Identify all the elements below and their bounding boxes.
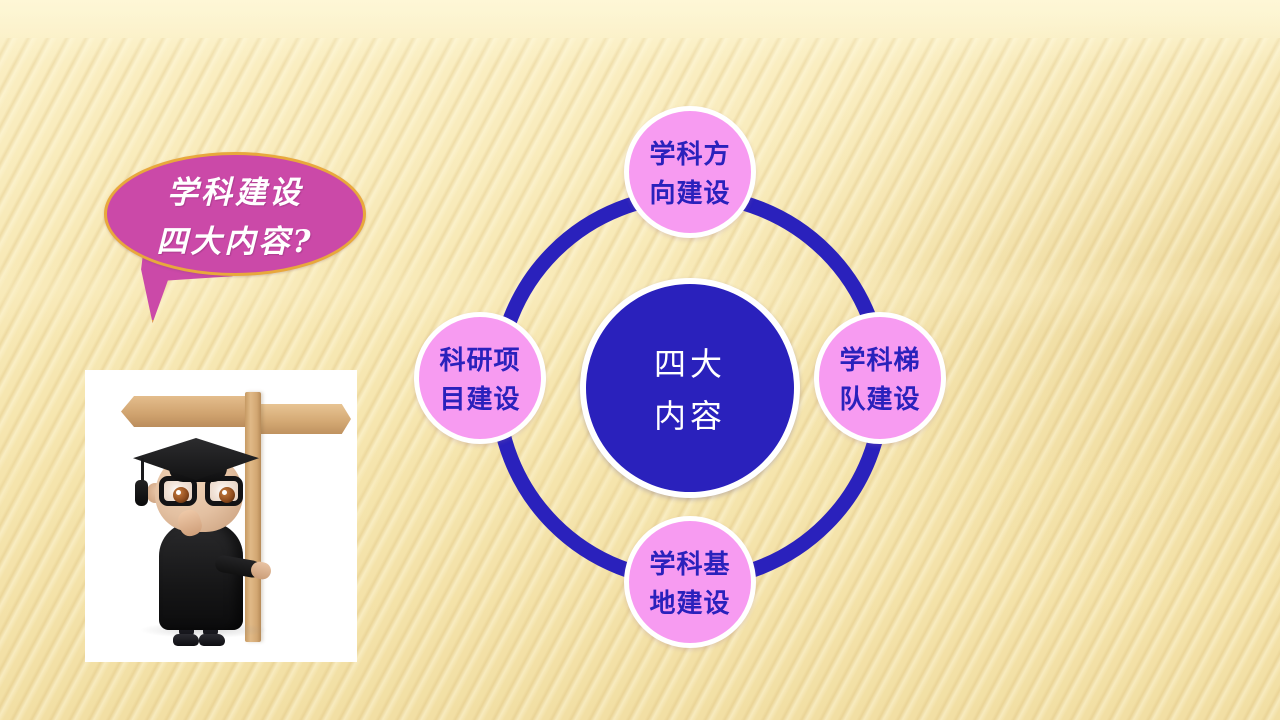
speech-bubble-body (104, 152, 366, 276)
graduate-character (85, 370, 357, 662)
eye-right (219, 487, 235, 503)
node-top-line-1: 学科方 (649, 134, 730, 171)
title-speech-bubble: 学科建设 四大内容? (104, 152, 366, 327)
four-contents-diagram: 四大 内容 学科方 向建设 学科梯 队建设 学科基 地建设 科研项 目建设 (410, 96, 970, 666)
diagram-node-left[interactable]: 科研项 目建设 (414, 312, 546, 444)
node-bottom-line-1: 学科基 (649, 544, 730, 581)
node-right-line-2: 队建设 (839, 379, 920, 416)
character-hand (249, 560, 272, 581)
eye-left (173, 487, 189, 503)
node-top-line-2: 向建设 (649, 173, 730, 210)
graduate-signpost-image (85, 370, 357, 662)
diagram-node-right[interactable]: 学科梯 队建设 (814, 312, 946, 444)
center-line-2: 内容 (654, 391, 726, 437)
tassel-icon (135, 480, 148, 506)
node-left-line-2: 目建设 (439, 379, 520, 416)
slide-canvas: 学科建设 四大内容? (0, 0, 1280, 720)
center-line-1: 四大 (654, 339, 726, 385)
node-right-line-1: 学科梯 (839, 340, 920, 377)
mortarboard-icon (133, 438, 259, 480)
shoe-left (173, 634, 199, 646)
graduation-gown (159, 522, 243, 630)
node-left-line-1: 科研项 (439, 340, 520, 377)
diagram-center-node: 四大 内容 (580, 278, 800, 498)
shoe-right (199, 634, 225, 646)
diagram-node-bottom[interactable]: 学科基 地建设 (624, 516, 756, 648)
node-bottom-line-2: 地建设 (649, 583, 730, 620)
diagram-node-top[interactable]: 学科方 向建设 (624, 106, 756, 238)
